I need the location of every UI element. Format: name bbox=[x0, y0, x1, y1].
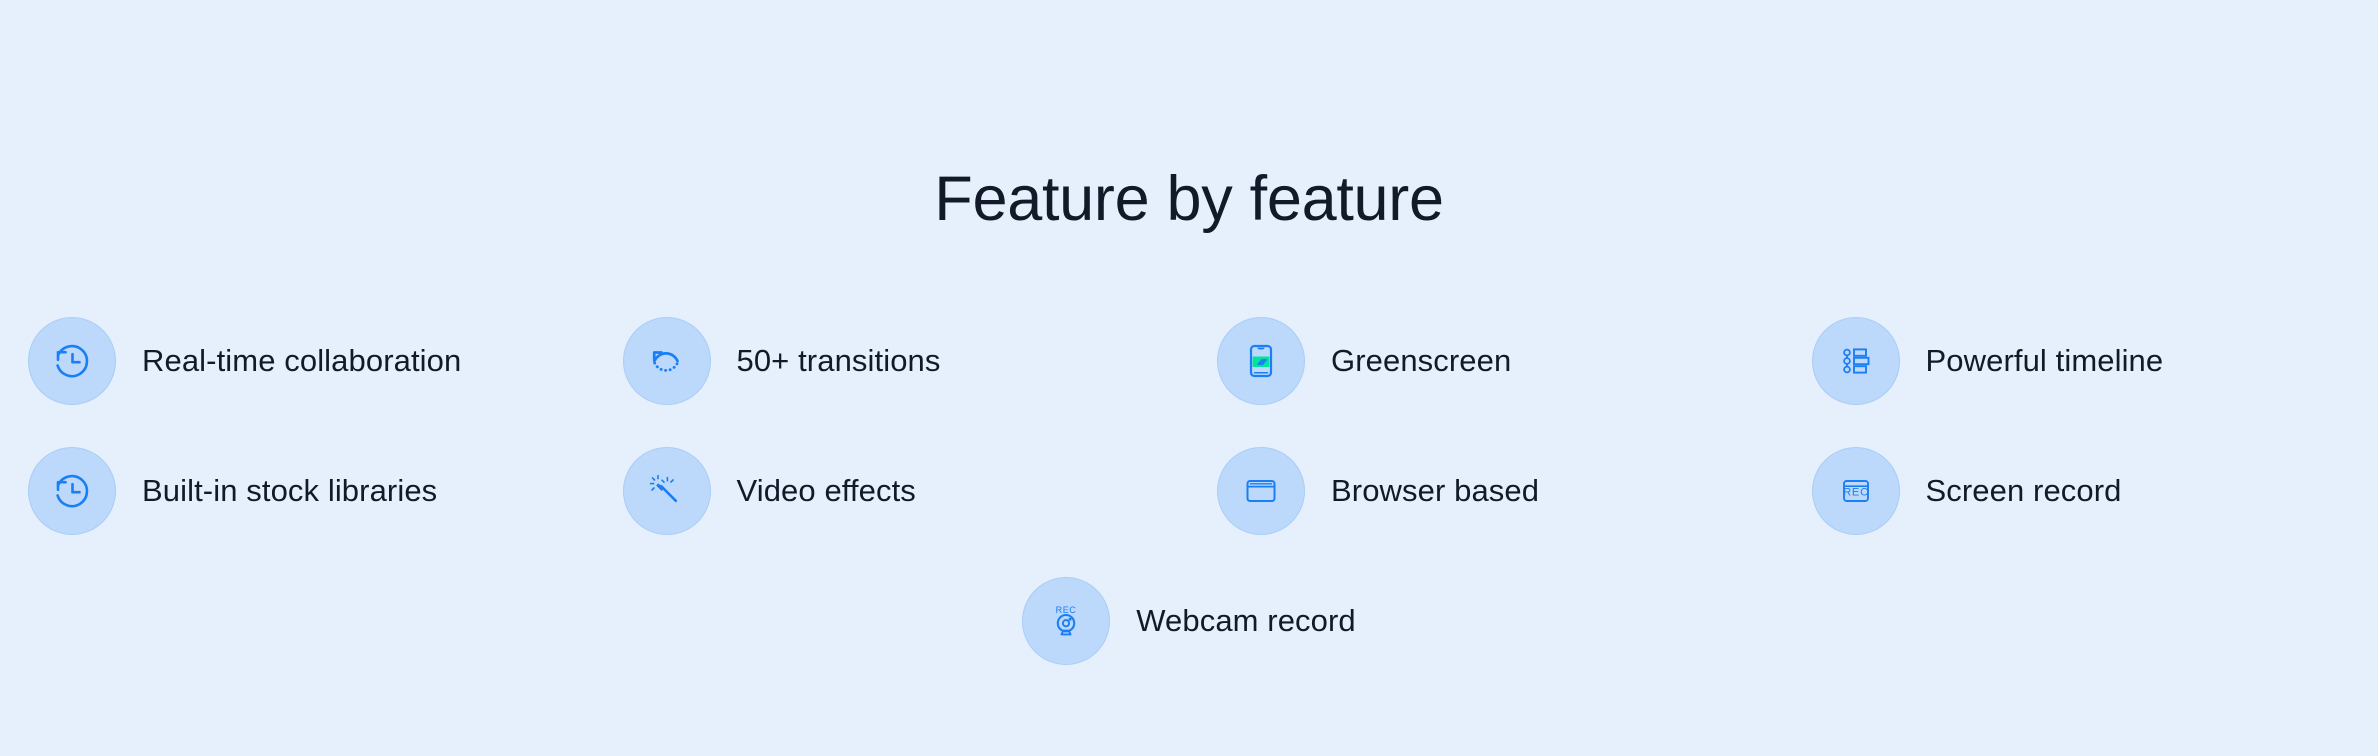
webcam-record-rec-icon: REC bbox=[1022, 577, 1110, 665]
page-title: Feature by feature bbox=[0, 168, 2378, 231]
transition-loop-arrow-icon bbox=[623, 317, 711, 405]
feature-item-50-transitions[interactable]: 50+ transitions bbox=[595, 296, 1190, 426]
feature-item-greenscreen[interactable]: Greenscreen bbox=[1189, 296, 1784, 426]
feature-label: Powerful timeline bbox=[1926, 343, 2164, 379]
phone-greenscreen-icon bbox=[1217, 317, 1305, 405]
screen-record-rec-icon: REC bbox=[1812, 447, 1900, 535]
feature-item-browser-based[interactable]: Browser based bbox=[1189, 426, 1784, 556]
features-grid: Real-time collaboration 50+ transitions bbox=[0, 296, 2378, 686]
feature-label: 50+ transitions bbox=[737, 343, 941, 379]
feature-item-webcam-record[interactable]: REC Webcam record bbox=[595, 556, 1784, 686]
feature-label: Greenscreen bbox=[1331, 343, 1511, 379]
browser-window-icon bbox=[1217, 447, 1305, 535]
magic-wand-sparkles-icon bbox=[623, 447, 711, 535]
feature-label: Real-time collaboration bbox=[142, 343, 461, 379]
rec-label: REC bbox=[1843, 486, 1869, 498]
feature-item-real-time-collaboration[interactable]: Real-time collaboration bbox=[0, 296, 595, 426]
history-clock-icon bbox=[28, 447, 116, 535]
feature-item-powerful-timeline[interactable]: Powerful timeline bbox=[1784, 296, 2378, 426]
history-clock-icon bbox=[28, 317, 116, 405]
feature-label: Webcam record bbox=[1136, 603, 1356, 639]
feature-label: Browser based bbox=[1331, 473, 1539, 509]
feature-label: Video effects bbox=[737, 473, 916, 509]
feature-label: Built-in stock libraries bbox=[142, 473, 437, 509]
feature-item-built-in-stock-libraries[interactable]: Built-in stock libraries bbox=[0, 426, 595, 556]
feature-item-screen-record[interactable]: REC Screen record bbox=[1784, 426, 2378, 556]
timeline-tracks-icon bbox=[1812, 317, 1900, 405]
rec-label: REC bbox=[1056, 605, 1077, 615]
feature-item-video-effects[interactable]: Video effects bbox=[595, 426, 1190, 556]
feature-label: Screen record bbox=[1926, 473, 2122, 509]
features-section: Feature by feature Real-time collaborati… bbox=[0, 0, 2378, 756]
